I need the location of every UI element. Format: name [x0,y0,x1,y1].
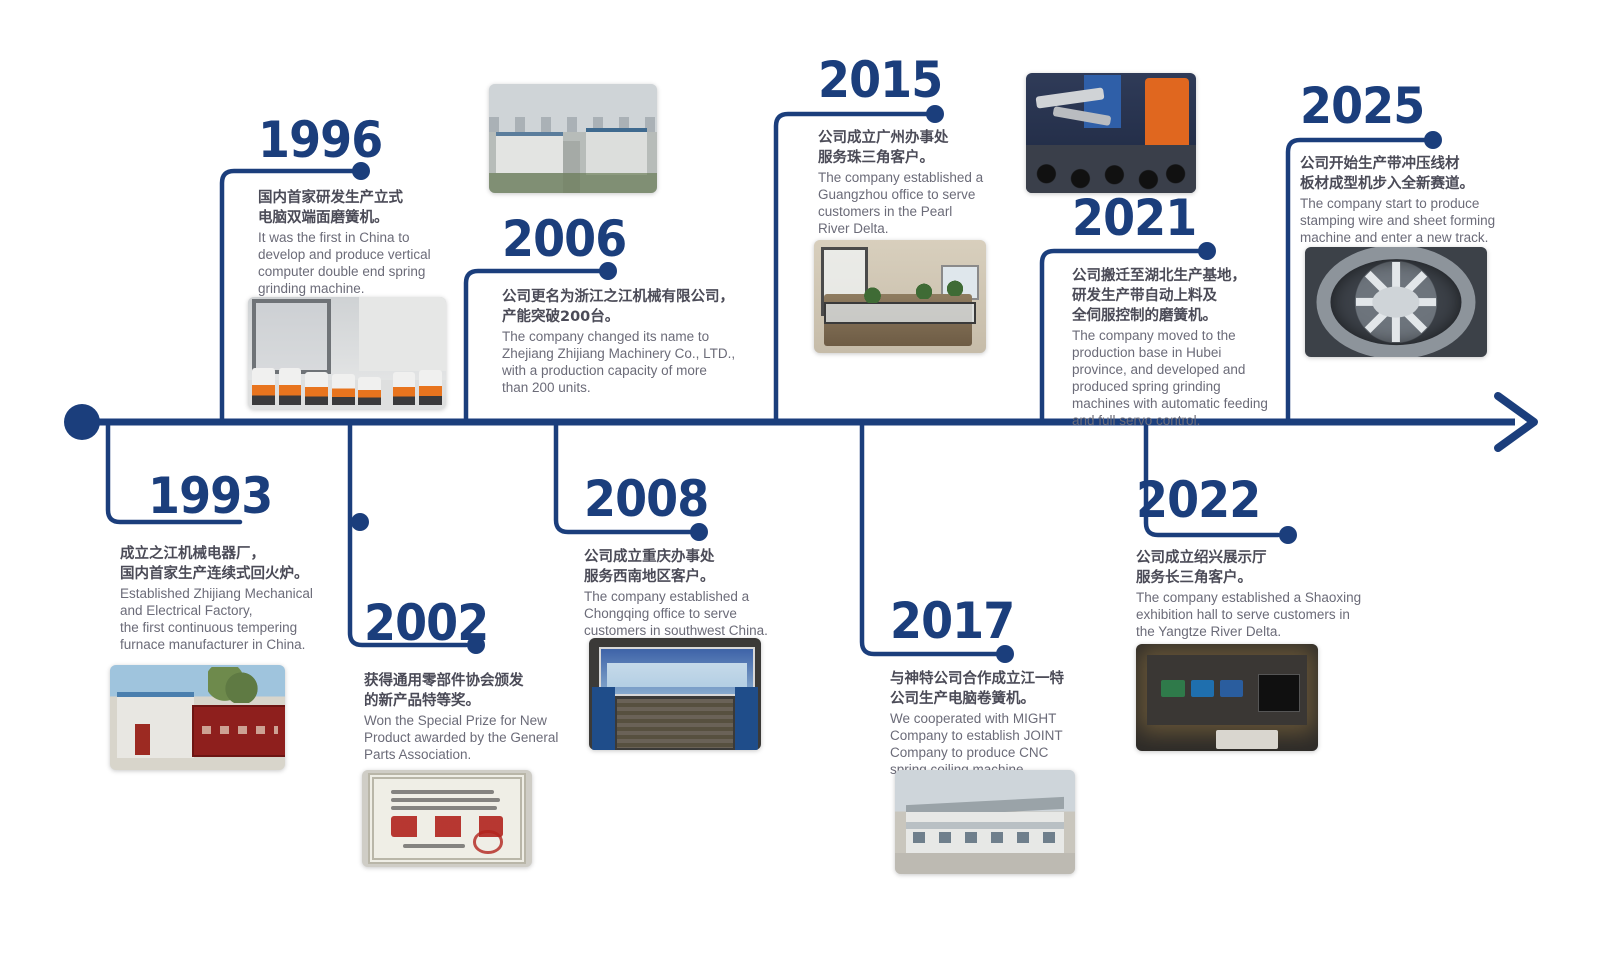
event-2008[interactable]: 2008 公司成立重庆办事处 服务西南地区客户。 The company est… [584,473,814,639]
event-2022[interactable]: 2022 公司成立绍兴展示厅 服务长三角客户。 The company esta… [1136,474,1396,640]
event-photo-2006: aerial-factory-campus [489,84,657,193]
event-cn-2017: 与神特公司合作成立江一特 公司生产电脑卷簧机。 [890,669,1090,709]
event-2006[interactable]: 2006 公司更名为浙江之江机械有限公司， 产能突破200台。 The comp… [502,213,762,396]
event-cn-1993: 成立之江机械电器厂， 国内首家生产连续式回火炉。 [120,544,360,584]
event-year-1996: 1996 [258,114,460,166]
event-year-2015: 2015 [818,54,1011,106]
event-photo-2015: guangzhou-office-interior [814,240,986,353]
event-en-2017: We cooperated with MIGHT Company to esta… [890,710,1090,778]
event-year-2025: 2025 [1300,80,1521,132]
event-photo-2022: shaoxing-exhibition-hall [1136,644,1318,751]
event-year-2017: 2017 [890,595,1102,647]
event-year-1993: 1993 [148,470,360,522]
event-cn-2022: 公司成立绍兴展示厅 服务长三角客户。 [1136,548,1386,588]
event-2015[interactable]: 2015 公司成立广州办事处 服务珠三角客户。 The company esta… [818,54,1028,237]
timeline-infographic: 1993 成立之江机械电器厂， 国内首家生产连续式回火炉。 Establishe… [0,0,1600,959]
event-year-2006: 2006 [502,213,741,265]
event-cn-2021: 公司搬迁至湖北生产基地， 研发生产带自动上料及 全伺服控制的磨簧机。 [1072,266,1290,326]
event-en-2002: Won the Special Prize for New Product aw… [364,712,584,763]
event-photo-2008: chongqing-office-storefront [589,638,761,750]
event-year-2002: 2002 [364,597,576,649]
event-2025[interactable]: 2025 公司开始生产带冲压线材 板材成型机步入全新赛道。 The compan… [1300,80,1540,246]
event-2021[interactable]: 2021 公司搬迁至湖北生产基地， 研发生产带自动上料及 全伺服控制的磨簧机。 … [1072,192,1302,429]
event-photo-2017: joint-company-factory-building [895,770,1075,874]
event-year-2008: 2008 [584,473,796,525]
event-photo-1993: factory-gate-red-sign [110,665,285,770]
axis-start-dot [64,404,100,440]
event-1996[interactable]: 1996 国内首家研发生产立式 电脑双端面磨簧机。 It was the fir… [258,114,478,297]
event-year-2022: 2022 [1136,474,1375,526]
event-en-2006: The company changed its name to Zhejiang… [502,328,770,396]
event-photo-1996: workshop-grinding-machines [248,297,446,409]
axis-arrow-icon [1498,396,1534,448]
event-en-2008: The company established a Chongqing offi… [584,588,799,639]
event-en-2021: The company moved to the production base… [1072,327,1290,429]
event-cn-2025: 公司开始生产带冲压线材 板材成型机步入全新赛道。 [1300,154,1536,194]
event-photo-2021: automatic-feeding-machine [1026,73,1196,193]
event-1993[interactable]: 1993 成立之江机械电器厂， 国内首家生产连续式回火炉。 Establishe… [148,470,378,653]
event-photo-2002: award-certificate [362,770,532,867]
event-cn-2002: 获得通用零部件协会颁发 的新产品特等奖。 [364,671,584,711]
event-2017[interactable]: 2017 与神特公司合作成立江一特 公司生产电脑卷簧机。 We cooperat… [890,595,1120,778]
event-en-2015: The company established a Guangzhou offi… [818,169,1008,237]
event-2002[interactable]: 2002 获得通用零部件协会颁发 的新产品特等奖。 Won the Specia… [364,597,594,763]
event-year-2021: 2021 [1072,192,1284,244]
event-cn-2015: 公司成立广州办事处 服务珠三角客户。 [818,128,1008,168]
event-en-1996: It was the first in China to develop and… [258,229,458,297]
event-cn-2006: 公司更名为浙江之江机械有限公司， 产能突破200台。 [502,287,770,327]
event-en-1993: Established Zhijiang Mechanical and Elec… [120,585,360,653]
event-cn-2008: 公司成立重庆办事处 服务西南地区客户。 [584,547,799,587]
event-en-2022: The company established a Shaoxing exhib… [1136,589,1386,640]
event-cn-1996: 国内首家研发生产立式 电脑双端面磨簧机。 [258,188,458,228]
event-photo-2025: stamping-forming-machine-head [1305,247,1487,357]
event-en-2025: The company start to produce stamping wi… [1300,195,1536,246]
